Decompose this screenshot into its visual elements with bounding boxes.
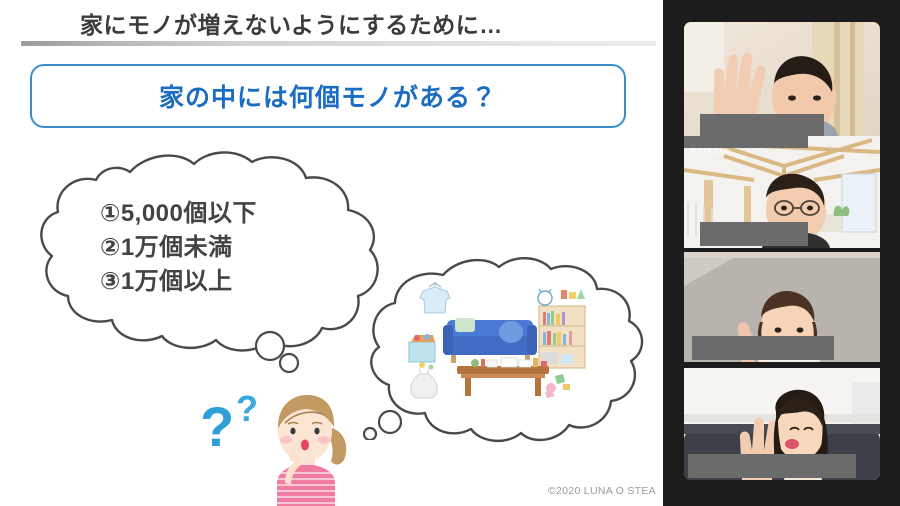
option-item: ③1万個以上: [100, 265, 370, 299]
hanging-shirt-icon: [420, 282, 450, 313]
video-feed[interactable]: [684, 252, 880, 362]
options-thought-bubble: ①5,000個以下 ②1万個未満 ③1万個以上: [18, 150, 388, 355]
blue-sofa-icon: [443, 318, 537, 363]
video-tile-participant-1[interactable]: [663, 0, 900, 136]
question-box-text: 家の中には何個モノがある？: [159, 78, 497, 114]
video-feed[interactable]: GROUP POLUS: [684, 136, 880, 248]
copyright-notice: ©2020 LUNA O STEA: [548, 485, 656, 497]
coffee-table-icon: [457, 358, 549, 396]
presentation-screen: 家にモノが増えないようにするために… 家の中には何個モノがある？ ①5,000個…: [0, 0, 900, 506]
participant-name-redaction: [692, 336, 834, 360]
options-bubble-tail: [248, 330, 318, 390]
options-list: ①5,000個以下 ②1万個未満 ③1万個以上: [100, 197, 370, 299]
bookshelf-icon: [539, 306, 585, 368]
participant-name-redaction: [700, 114, 824, 136]
participant-name-redaction: [700, 222, 808, 246]
scattered-toys-icon: [545, 374, 570, 398]
participant-name-redaction: [688, 454, 856, 478]
alarm-clock-icon: [538, 289, 585, 305]
option-item: ②1万個未満: [100, 231, 370, 265]
video-tile-participant-4[interactable]: [663, 368, 900, 506]
slide-content-area: 家にモノが増えないようにするために… 家の中には何個モノがある？ ①5,000個…: [0, 0, 663, 506]
video-tile-participant-3-active-speaker[interactable]: [663, 250, 900, 364]
toy-box-icon: [409, 334, 435, 370]
title-divider: [21, 41, 656, 46]
page-title: 家にモノが増えないようにするために…: [80, 6, 503, 40]
video-feed[interactable]: [684, 22, 880, 136]
video-feed[interactable]: [684, 368, 880, 480]
video-tile-participant-2[interactable]: GROUP POLUS: [663, 136, 900, 248]
option-item: ①5,000個以下: [100, 197, 370, 231]
trash-bag-icon: [411, 368, 438, 398]
room-bubble-tail: [352, 390, 412, 440]
svg-text:?: ?: [200, 395, 234, 458]
cluttered-room-illustration: [405, 280, 600, 405]
video-participants-panel: GROUP POLUS: [663, 0, 900, 506]
question-box: 家の中には何個モノがある？: [30, 64, 626, 128]
thinking-woman-illustration: [255, 385, 360, 506]
participant-name-redaction: [684, 136, 808, 148]
